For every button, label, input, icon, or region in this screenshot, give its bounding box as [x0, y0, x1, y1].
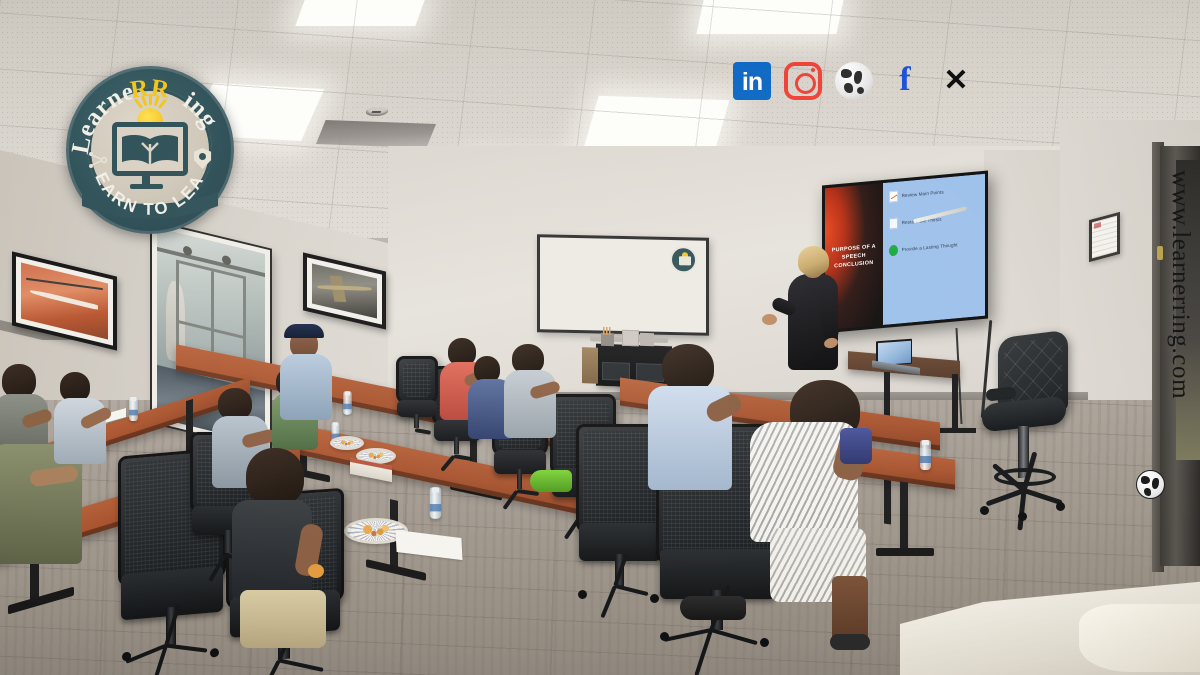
student-shorts: [240, 590, 326, 648]
open-book-icon: [120, 132, 180, 168]
desk-foot: [938, 428, 976, 433]
student: [226, 448, 338, 674]
x-glyph: ✕: [943, 64, 968, 97]
instagram-icon[interactable]: [784, 62, 822, 100]
globe-watermark-icon: [1136, 470, 1165, 499]
adult-shirt: [280, 354, 332, 420]
presenter-hair: [798, 246, 829, 275]
x-twitter-icon[interactable]: ✕: [937, 62, 975, 100]
linkedin-glyph: in: [742, 68, 762, 96]
plate-pattern: [333, 439, 361, 447]
chair-mesh: [403, 363, 431, 397]
stool-caster: [980, 506, 989, 515]
student-backpack: [840, 428, 872, 464]
air-vent: [316, 120, 436, 148]
slide-bullet-text: Review Main Points: [902, 189, 944, 198]
desk-leg: [952, 374, 958, 432]
water-bottle[interactable]: [129, 397, 138, 421]
student-hair: [2, 364, 36, 398]
green-dot-icon: [889, 245, 898, 257]
student: [648, 344, 746, 522]
sneaker: [530, 470, 572, 492]
laptop[interactable]: [872, 338, 916, 371]
student-hair: [662, 344, 714, 392]
learnerring-logo: Learne RR ing LEARN TO LEAD: [66, 66, 234, 234]
ceiling-light-panel: [696, 0, 843, 34]
stool-caster: [1056, 502, 1065, 511]
presenter-left-hand: [762, 314, 777, 325]
table-leg: [900, 481, 908, 552]
slide-bullet-text: Provide a Lasting Thought: [902, 242, 958, 252]
slide-bullet: Provide a Lasting Thought: [889, 237, 980, 256]
screenshot-root: PURPOSE OF A SPEECH CONCLUSION Review Ma…: [0, 0, 1200, 675]
student-shirt: [54, 398, 106, 464]
linkedin-icon[interactable]: in: [733, 62, 771, 100]
certificate-paper: [1092, 216, 1117, 259]
student-shoe: [530, 470, 574, 510]
baseball-cap: [284, 324, 324, 338]
framed-certificate: [1089, 212, 1120, 262]
facebook-glyph: f: [899, 61, 910, 98]
pencil-cup: [601, 333, 614, 346]
smoke-detector-icon: [364, 107, 389, 116]
drafting-stool[interactable]: [980, 334, 1072, 520]
water-bottle[interactable]: [343, 391, 352, 414]
chair-caster: [578, 590, 587, 599]
slide-body-panel: Review Main Points Restate the Thesis Pr…: [883, 174, 985, 325]
student: [504, 344, 566, 468]
chart-icon: [889, 191, 898, 203]
snack-in-hand: [308, 564, 324, 578]
presenter: [776, 246, 852, 392]
tissue-box: [622, 330, 639, 347]
sneaker: [680, 596, 746, 620]
facebook-icon[interactable]: f: [886, 62, 924, 100]
website-url[interactable]: www.learnerring.com: [1166, 170, 1194, 399]
plate-pattern: [359, 451, 393, 461]
student-shoe: [680, 582, 754, 644]
chair-back: [396, 356, 438, 404]
student-shoe: [830, 634, 870, 650]
globe-icon[interactable]: [835, 62, 873, 100]
table-foot: [876, 548, 934, 556]
monitor-foot: [130, 184, 163, 189]
chair-caster: [660, 632, 669, 641]
student: [744, 380, 876, 652]
chair-base: [581, 582, 658, 600]
student: [54, 372, 116, 502]
water-bottle[interactable]: [430, 487, 442, 519]
sun-ray-icon: [149, 94, 152, 105]
adult-chaperone: [276, 322, 342, 430]
ceiling-light-panel: [295, 0, 424, 26]
door-handle[interactable]: [1157, 246, 1163, 260]
photo-image: [21, 263, 108, 340]
social-icon-bar: in f ✕: [733, 54, 995, 108]
chair-base: [399, 426, 436, 434]
stool-caster: [1018, 512, 1027, 521]
student-hair: [246, 448, 304, 506]
document-icon: [889, 218, 898, 230]
office-chair[interactable]: [396, 356, 438, 434]
slide-bullet: Review Main Points: [889, 183, 980, 202]
whiteboard-logo-decal: [670, 246, 697, 274]
network-node-icon: [88, 150, 108, 170]
student-shirt: [504, 370, 556, 438]
water-bottle[interactable]: [920, 440, 931, 470]
whiteboard: [537, 234, 709, 336]
chair-mesh: [583, 431, 657, 526]
